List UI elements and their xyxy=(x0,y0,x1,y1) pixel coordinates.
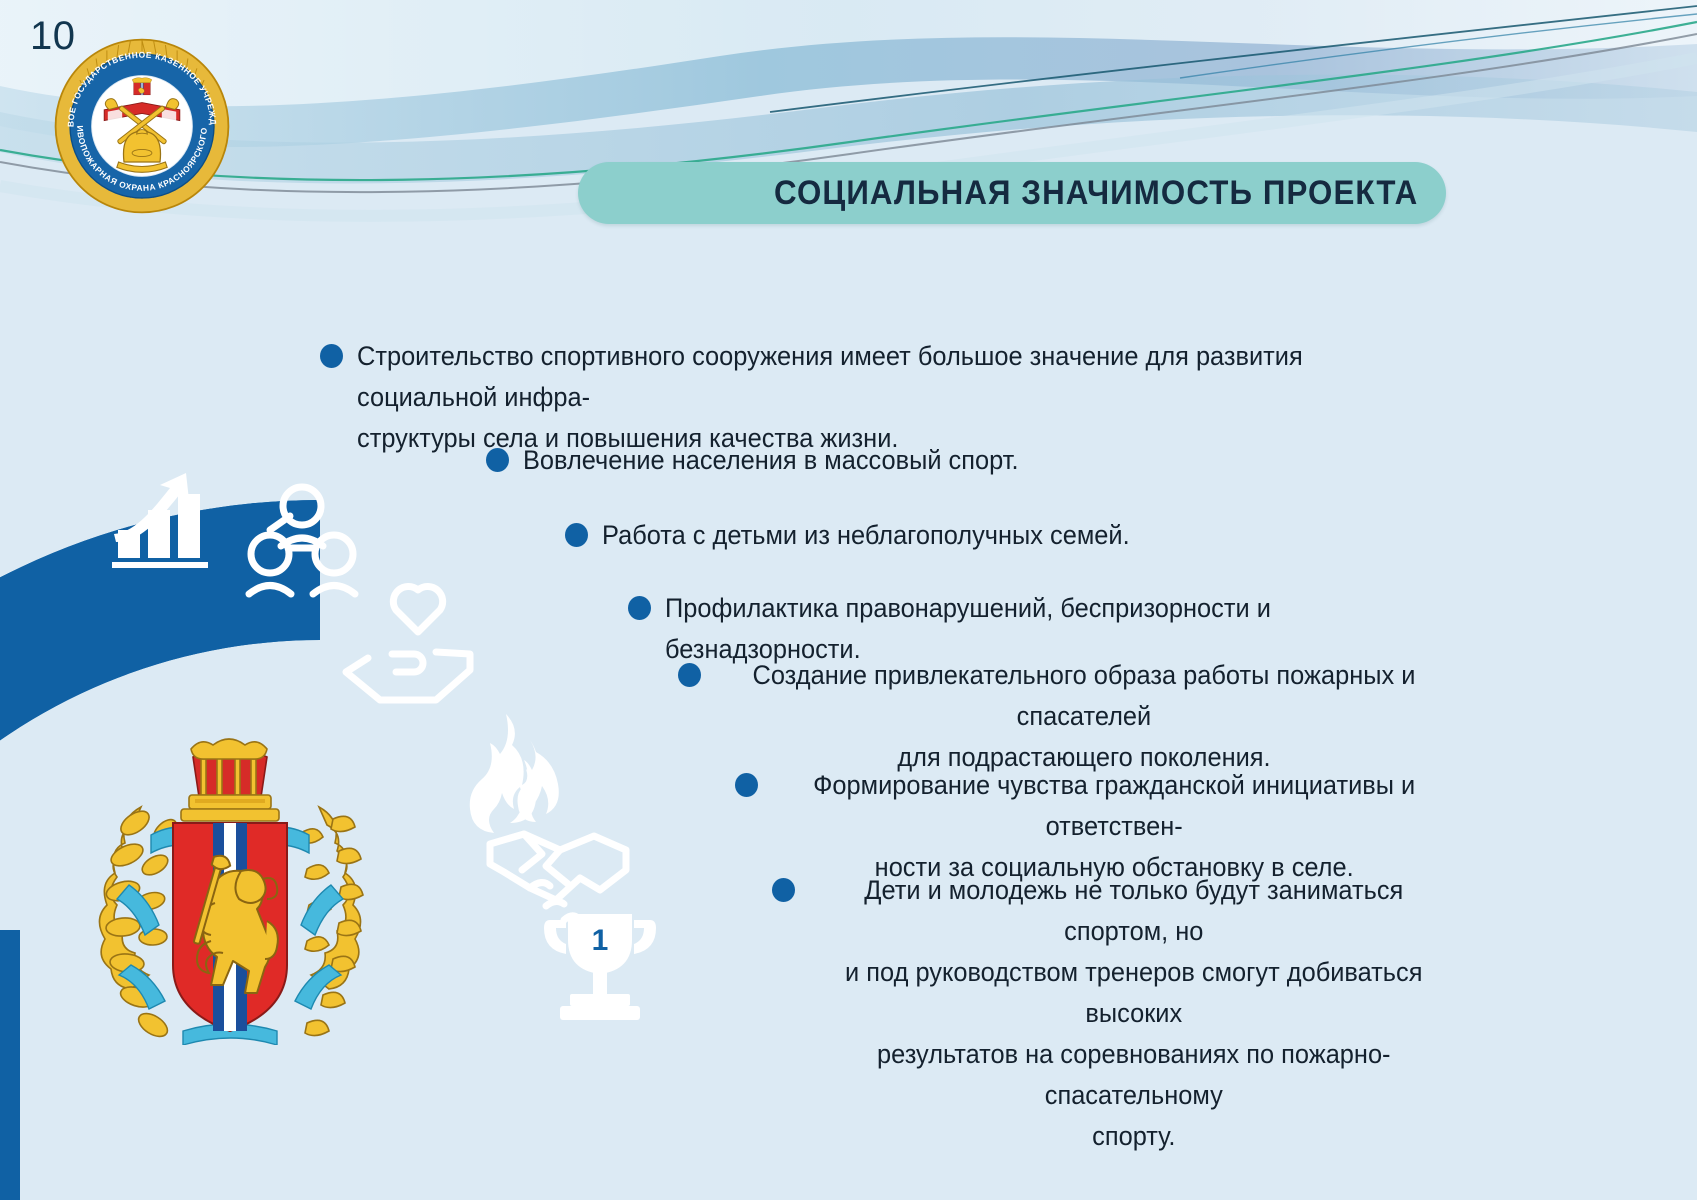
bullet-text-mass-sport: Вовлечение населения в массовый спорт. xyxy=(523,440,1019,481)
bullet-dot-icon xyxy=(628,596,651,620)
growth-chart-icon xyxy=(112,473,208,568)
presentation-slide: 10 xyxy=(0,0,1697,1200)
list-item: Вовлечение населения в массовый спорт. xyxy=(486,440,1050,481)
page-title: СОЦИАЛЬНАЯ ЗНАЧИМОСТЬ ПРОЕКТА xyxy=(774,174,1418,213)
bullet-dot-icon xyxy=(678,663,701,687)
bullet-dot-icon xyxy=(772,878,795,902)
list-item: Работа с детьми из неблагополучных семей… xyxy=(565,515,1163,556)
bullet-text-youth: Дети и молодежь не только будут занимать… xyxy=(809,870,1459,1157)
bullet-dot-icon xyxy=(735,773,758,797)
list-item: Дети и молодежь не только будут занимать… xyxy=(772,870,1500,1157)
bullet-list: Строительство спортивного сооружения име… xyxy=(320,330,1500,1050)
slide-title-banner: СОЦИАЛЬНАЯ ЗНАЧИМОСТЬ ПРОЕКТА xyxy=(578,162,1446,224)
fire-protection-emblem: КРАЕВОЕ ГОСУДАРСТВЕННОЕ КАЗЕННОЕ УЧРЕЖДЕ… xyxy=(52,36,232,216)
bullet-dot-icon xyxy=(565,523,588,547)
bullet-dot-icon xyxy=(486,448,509,472)
bullet-dot-icon xyxy=(320,344,343,368)
decorative-wave-background xyxy=(0,0,1697,320)
list-item: Создание привлекательного образа работы … xyxy=(678,655,1500,778)
bullet-text-children: Работа с детьми из неблагополучных семей… xyxy=(602,515,1130,556)
bullet-text-image: Создание привлекательного образа работы … xyxy=(715,655,1453,778)
